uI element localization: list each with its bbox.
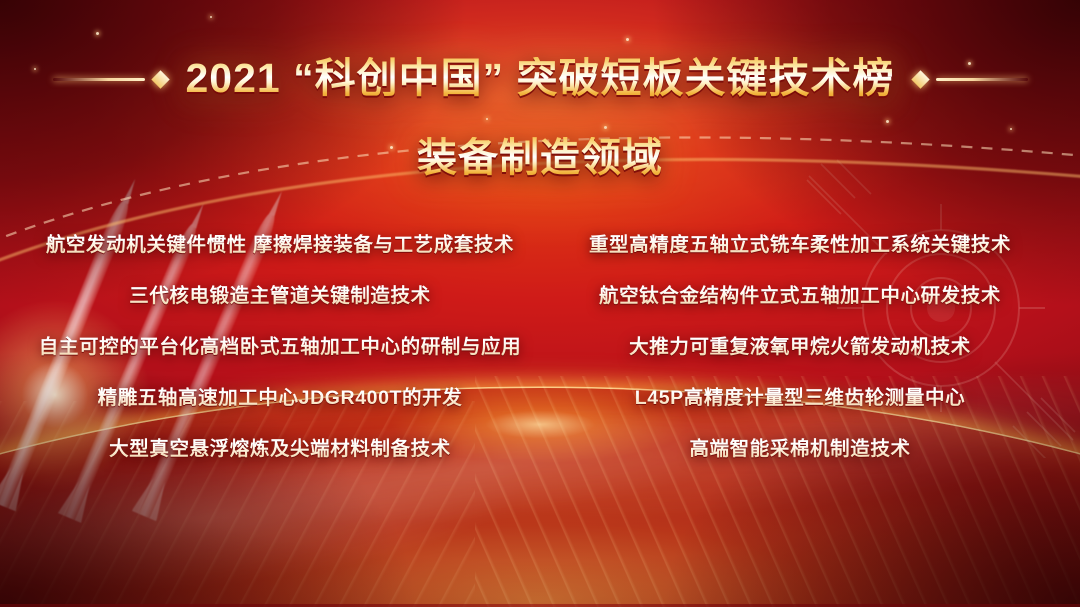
page-subtitle: 装备制造领域 — [0, 137, 1080, 179]
technology-list: 航空发动机关键件惯性 摩擦焊接装备与工艺成套技术 三代核电锻造主管道关键制造技术… — [0, 228, 1080, 461]
gold-rule-right-icon — [936, 78, 1028, 81]
poster-title-block: 2021 “科创中国” 突破短板关键技术榜 装备制造领域 — [0, 30, 1080, 213]
list-item: 高端智能采棉机制造技术 — [689, 432, 910, 461]
list-item: 自主可控的平台化高档卧式五轴加工中心的研制与应用 — [39, 330, 521, 359]
list-item: L45P高精度计量型三维齿轮测量中心 — [635, 381, 965, 410]
title-main-row: 2021 “科创中国” 突破短板关键技术榜 — [0, 30, 1080, 128]
list-item: 大型真空悬浮熔炼及尖端材料制备技术 — [109, 432, 451, 461]
list-item: 三代核电锻造主管道关键制造技术 — [129, 279, 431, 308]
gold-diamond-right-icon — [911, 70, 929, 88]
list-item: 重型高精度五轴立式铣车柔性加工系统关键技术 — [589, 228, 1011, 257]
list-item: 大推力可重复液氧甲烷火箭发动机技术 — [629, 330, 971, 359]
list-item: 航空钛合金结构件立式五轴加工中心研发技术 — [599, 279, 1001, 308]
list-item: 航空发动机关键件惯性 摩擦焊接装备与工艺成套技术 — [46, 228, 514, 257]
page-title: 2021 “科创中国” 突破短板关键技术榜 — [176, 57, 905, 100]
gold-rule-left-icon — [53, 78, 145, 81]
technology-list-left-column: 航空发动机关键件惯性 摩擦焊接装备与工艺成套技术 三代核电锻造主管道关键制造技术… — [34, 228, 540, 461]
technology-list-right-column: 重型高精度五轴立式铣车柔性加工系统关键技术 航空钛合金结构件立式五轴加工中心研发… — [540, 228, 1046, 461]
poster-canvas: 2021 “科创中国” 突破短板关键技术榜 装备制造领域 航空发动机关键件惯性 … — [0, 0, 1080, 607]
gold-diamond-left-icon — [151, 70, 169, 88]
sparkle-dot — [210, 16, 212, 18]
list-item: 精雕五轴高速加工中心JDGR400T的开发 — [98, 381, 463, 410]
